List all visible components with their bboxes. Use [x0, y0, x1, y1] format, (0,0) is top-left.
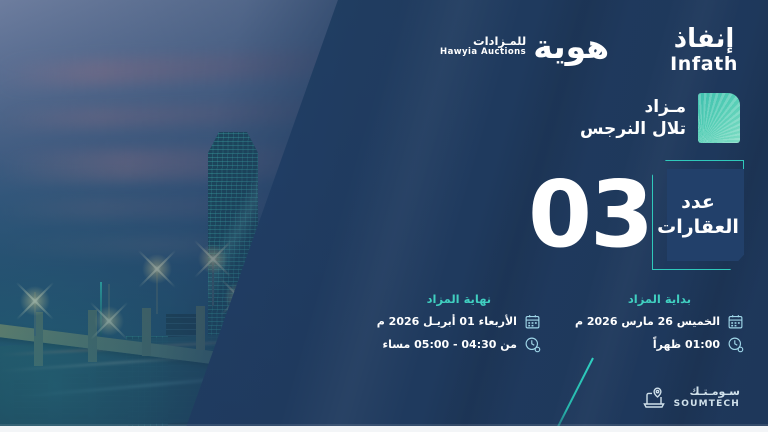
hawyia-logo-words: للمـزادات Hawyia Auctions — [440, 35, 526, 58]
auction-end-time: من 04:30 - 05:00 مساء — [383, 338, 517, 351]
soumtech-logo-arabic: سـومـتـك — [674, 385, 740, 399]
property-count-block: عدد العقارات 03 — [522, 160, 744, 270]
auction-name-text: مـزاد تلال النرجس — [580, 96, 686, 141]
property-count-value: 03 — [528, 171, 652, 258]
auction-start-title: بداية المزاد — [575, 292, 744, 306]
soumtech-logo-text: سـومـتـك SOUMTECH — [674, 385, 740, 410]
property-count-label-line2: العقارات — [657, 215, 739, 240]
property-count-label: عدد العقارات — [657, 190, 739, 239]
auction-start-time: 01:00 ظهراً — [653, 338, 720, 351]
infath-logo: إنفاذ Infath — [670, 26, 738, 74]
hawyia-logo-mark: هوية — [533, 30, 609, 63]
hawyia-auctions-logo: هوية للمـزادات Hawyia Auctions — [440, 30, 609, 63]
calendar-icon — [524, 313, 541, 330]
laptop-location-pin-icon — [641, 386, 667, 410]
soumtech-logo-english: SOUMTECH — [674, 399, 740, 410]
calendar-icon — [727, 313, 744, 330]
banner-content: إنفاذ Infath هوية للمـزادات Hawyia Aucti… — [0, 0, 768, 432]
clock-icon — [524, 336, 541, 353]
auction-end-title: نهاية المزاد — [377, 292, 541, 306]
auction-banner: إنفاذ Infath هوية للمـزادات Hawyia Aucti… — [0, 0, 768, 432]
property-count-label-line1: عدد — [657, 190, 739, 215]
auction-end-column: نهاية المزاد الأربعاء 01 أبريـل 2026 م — [377, 292, 541, 359]
auction-end-date-row: الأربعاء 01 أبريـل 2026 م — [377, 313, 541, 330]
auction-name-line2: تلال النرجس — [580, 118, 686, 140]
auction-name-block: مـزاد تلال النرجس — [580, 93, 740, 143]
soumtech-logo: سـومـتـك SOUMTECH — [641, 385, 740, 410]
auction-start-time-row: 01:00 ظهراً — [575, 336, 744, 353]
auction-name-line1: مـزاد — [580, 96, 686, 118]
auction-start-column: بداية المزاد الخميس 26 مارس 2026 م — [575, 292, 744, 359]
auction-end-time-row: من 04:30 - 05:00 مساء — [377, 336, 541, 353]
bottom-white-strip — [0, 426, 768, 432]
infath-logo-arabic: إنفاذ — [670, 26, 738, 52]
auction-square-logo-icon — [698, 93, 740, 143]
property-count-label-frame: عدد العقارات — [652, 160, 744, 270]
auction-start-date-row: الخميس 26 مارس 2026 م — [575, 313, 744, 330]
auction-end-date: الأربعاء 01 أبريـل 2026 م — [377, 315, 517, 328]
auction-schedule-details: بداية المزاد الخميس 26 مارس 2026 م — [300, 292, 744, 359]
infath-logo-english: Infath — [670, 55, 738, 74]
auction-start-date: الخميس 26 مارس 2026 م — [575, 315, 720, 328]
clock-icon — [727, 336, 744, 353]
hawyia-logo-english: Hawyia Auctions — [440, 48, 526, 58]
